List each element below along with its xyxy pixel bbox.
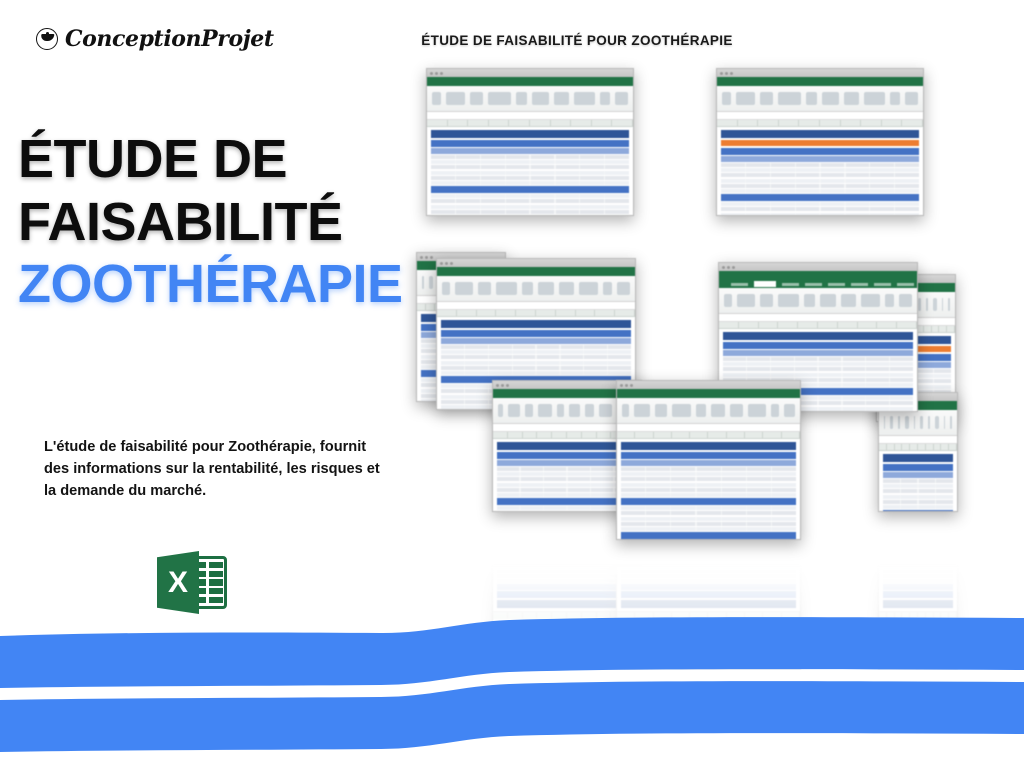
table-subheader-row bbox=[723, 350, 913, 356]
column-headers bbox=[879, 444, 957, 451]
hero-line-3: ZOOTHÉRAPIE bbox=[18, 253, 418, 316]
table-row bbox=[431, 215, 629, 216]
table-row bbox=[431, 171, 629, 175]
worksheet-grid bbox=[427, 127, 633, 216]
wave-band-upper bbox=[0, 617, 1024, 688]
table-row bbox=[441, 355, 631, 359]
column-headers bbox=[427, 120, 633, 127]
table-row bbox=[721, 168, 919, 172]
sheet-title-band bbox=[883, 454, 953, 462]
formula-bar bbox=[719, 314, 917, 322]
worksheet-grid bbox=[717, 127, 923, 216]
table-row bbox=[621, 511, 796, 515]
table-row bbox=[441, 371, 631, 375]
table-row bbox=[621, 517, 796, 521]
table-row bbox=[883, 500, 953, 504]
window-calcul-chiffre-affaires bbox=[426, 68, 634, 216]
table-row bbox=[621, 467, 796, 471]
poster-canvas: ConceptionProjet ÉTUDE DE FAISABILITÉ PO… bbox=[0, 0, 1024, 768]
ribbon-tabs bbox=[719, 280, 917, 288]
formula-bar bbox=[437, 302, 635, 310]
table-row bbox=[441, 345, 631, 349]
window-ribbon-bar bbox=[427, 77, 633, 86]
table-row bbox=[723, 362, 913, 366]
table-row bbox=[431, 199, 629, 203]
table-row bbox=[721, 163, 919, 167]
table-subheader-row bbox=[431, 148, 629, 154]
table-row bbox=[441, 350, 631, 354]
window-titlebar bbox=[437, 259, 635, 267]
table-subheader-row bbox=[441, 338, 631, 344]
table-row bbox=[883, 484, 953, 488]
window-budget-previsionnel bbox=[716, 68, 924, 216]
sheet-accent-band bbox=[721, 140, 919, 146]
excel-letter: X bbox=[157, 551, 199, 614]
sheet-title-band bbox=[431, 130, 629, 138]
window-titlebar bbox=[717, 69, 923, 77]
page-title: ÉTUDE DE FAISABILITÉ POUR ZOOTHÉRAPIE bbox=[0, 33, 1024, 48]
formula-bar bbox=[717, 112, 923, 120]
table-row bbox=[621, 488, 796, 492]
wave-band-lower bbox=[0, 681, 1024, 752]
table-row bbox=[721, 184, 919, 188]
window-budget-previsionnel bbox=[616, 380, 801, 540]
window-ribbon-bar bbox=[437, 267, 635, 276]
hero-headline: ÉTUDE DE FAISABILITÉ ZOOTHÉRAPIE bbox=[18, 128, 418, 316]
ribbon-toolbar bbox=[717, 86, 923, 112]
table-row bbox=[721, 213, 919, 217]
table-subheader-row bbox=[621, 460, 796, 466]
window-titlebar bbox=[617, 381, 800, 389]
column-headers bbox=[617, 432, 800, 439]
ribbon-toolbar bbox=[879, 410, 957, 436]
table-row bbox=[883, 505, 953, 509]
hero-description: L'étude de faisabilité pour Zoothérapie,… bbox=[44, 436, 384, 503]
table-subheader-row bbox=[721, 156, 919, 162]
table-section-row bbox=[621, 498, 796, 505]
table-row bbox=[621, 472, 796, 476]
worksheet-grid bbox=[879, 451, 957, 512]
bottom-wave-decoration bbox=[0, 608, 1024, 768]
table-row bbox=[621, 527, 796, 531]
window-titlebar bbox=[427, 69, 633, 77]
formula-bar bbox=[617, 424, 800, 432]
table-header-row bbox=[621, 452, 796, 459]
table-header-row bbox=[883, 464, 953, 471]
table-section-row bbox=[431, 186, 629, 193]
table-row bbox=[441, 366, 631, 370]
table-header-row bbox=[431, 140, 629, 147]
table-row bbox=[431, 181, 629, 185]
column-headers bbox=[437, 310, 635, 317]
table-row bbox=[723, 373, 913, 377]
column-headers bbox=[717, 120, 923, 127]
window-titlebar bbox=[719, 263, 917, 271]
table-row bbox=[431, 165, 629, 169]
formula-bar bbox=[879, 436, 957, 444]
table-subheader-row bbox=[883, 472, 953, 478]
table-section-row bbox=[621, 532, 796, 539]
table-row bbox=[431, 194, 629, 198]
table-row bbox=[723, 367, 913, 371]
table-row bbox=[621, 477, 796, 481]
table-row bbox=[621, 493, 796, 497]
ribbon-toolbar bbox=[427, 86, 633, 112]
table-row bbox=[721, 207, 919, 211]
hero-line-2: FAISABILITÉ bbox=[18, 191, 418, 254]
table-row bbox=[431, 155, 629, 159]
sheet-title-band bbox=[723, 332, 913, 340]
table-row bbox=[883, 479, 953, 483]
table-row bbox=[431, 210, 629, 214]
column-headers bbox=[719, 322, 917, 329]
table-row bbox=[883, 489, 953, 493]
sheet-title-band bbox=[621, 442, 796, 450]
table-row bbox=[621, 522, 796, 526]
formula-bar bbox=[427, 112, 633, 120]
window-ribbon-bar bbox=[717, 77, 923, 86]
hero-line-1: ÉTUDE DE bbox=[18, 128, 418, 191]
table-row bbox=[621, 506, 796, 510]
ribbon-toolbar bbox=[617, 398, 800, 424]
table-row bbox=[441, 361, 631, 365]
ribbon-toolbar bbox=[437, 276, 635, 302]
table-section-row bbox=[883, 510, 953, 512]
table-row bbox=[721, 189, 919, 193]
excel-mockups-cluster bbox=[408, 62, 1024, 622]
table-row bbox=[621, 483, 796, 487]
sheet-title-band bbox=[441, 320, 631, 328]
table-header-row bbox=[441, 330, 631, 337]
window-ribbon-bar bbox=[719, 271, 917, 280]
sheet-title-band bbox=[721, 130, 919, 138]
table-row bbox=[431, 176, 629, 180]
table-row bbox=[721, 173, 919, 177]
worksheet-grid bbox=[617, 439, 800, 540]
ribbon-toolbar bbox=[719, 288, 917, 314]
table-row bbox=[431, 205, 629, 209]
table-header-row bbox=[723, 342, 913, 349]
table-row bbox=[721, 202, 919, 206]
table-row bbox=[431, 160, 629, 164]
table-header-row bbox=[721, 148, 919, 155]
table-row bbox=[883, 495, 953, 499]
table-section-row bbox=[721, 194, 919, 201]
table-row bbox=[721, 179, 919, 183]
window-ribbon-bar bbox=[617, 389, 800, 398]
excel-spreadsheet-icon: X bbox=[157, 551, 227, 614]
table-row bbox=[723, 357, 913, 361]
